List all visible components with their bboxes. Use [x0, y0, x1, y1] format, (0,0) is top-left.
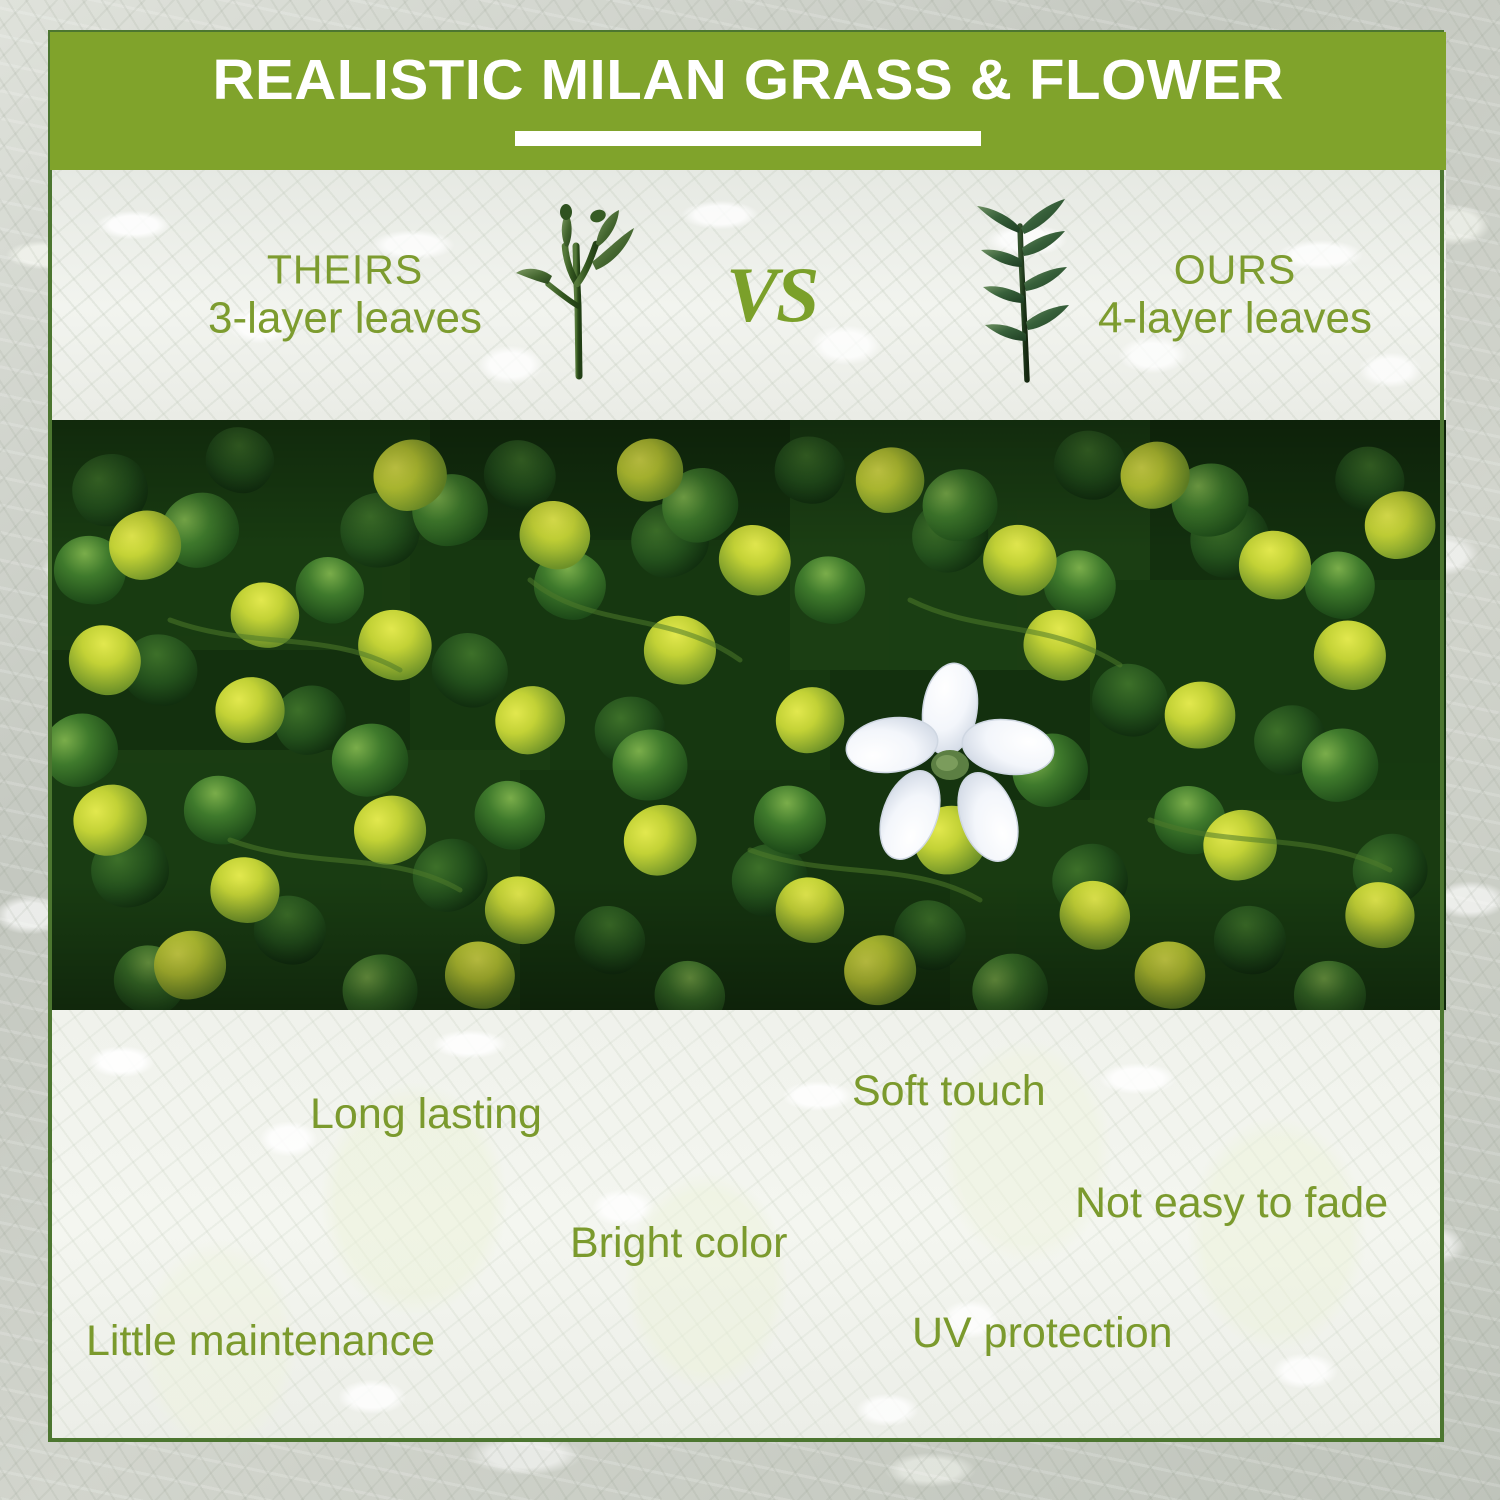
page-title: REALISTIC MILAN GRASS & FLOWER — [212, 52, 1283, 109]
comparison-theirs-block: THEIRS 3-layer leaves — [180, 247, 510, 342]
header-banner: REALISTIC MILAN GRASS & FLOWER — [50, 32, 1446, 170]
theirs-detail: 3-layer leaves — [208, 293, 482, 342]
comparison-ours-block: OURS 4-layer leaves — [1070, 247, 1400, 342]
versus-badge: VS — [726, 256, 817, 334]
features-section — [52, 1010, 1444, 1440]
product-photo — [50, 420, 1446, 1010]
ours-detail: 4-layer leaves — [1098, 293, 1372, 342]
product-infographic-poster: REALISTIC MILAN GRASS & FLOWER THEIRS 3-… — [0, 0, 1500, 1500]
ours-label: OURS — [1174, 247, 1296, 293]
three-layer-sprig-icon — [506, 188, 656, 383]
title-underline-rule — [515, 131, 981, 146]
theirs-label: THEIRS — [267, 247, 423, 293]
comparison-section: THEIRS 3-layer leaves — [50, 170, 1446, 420]
